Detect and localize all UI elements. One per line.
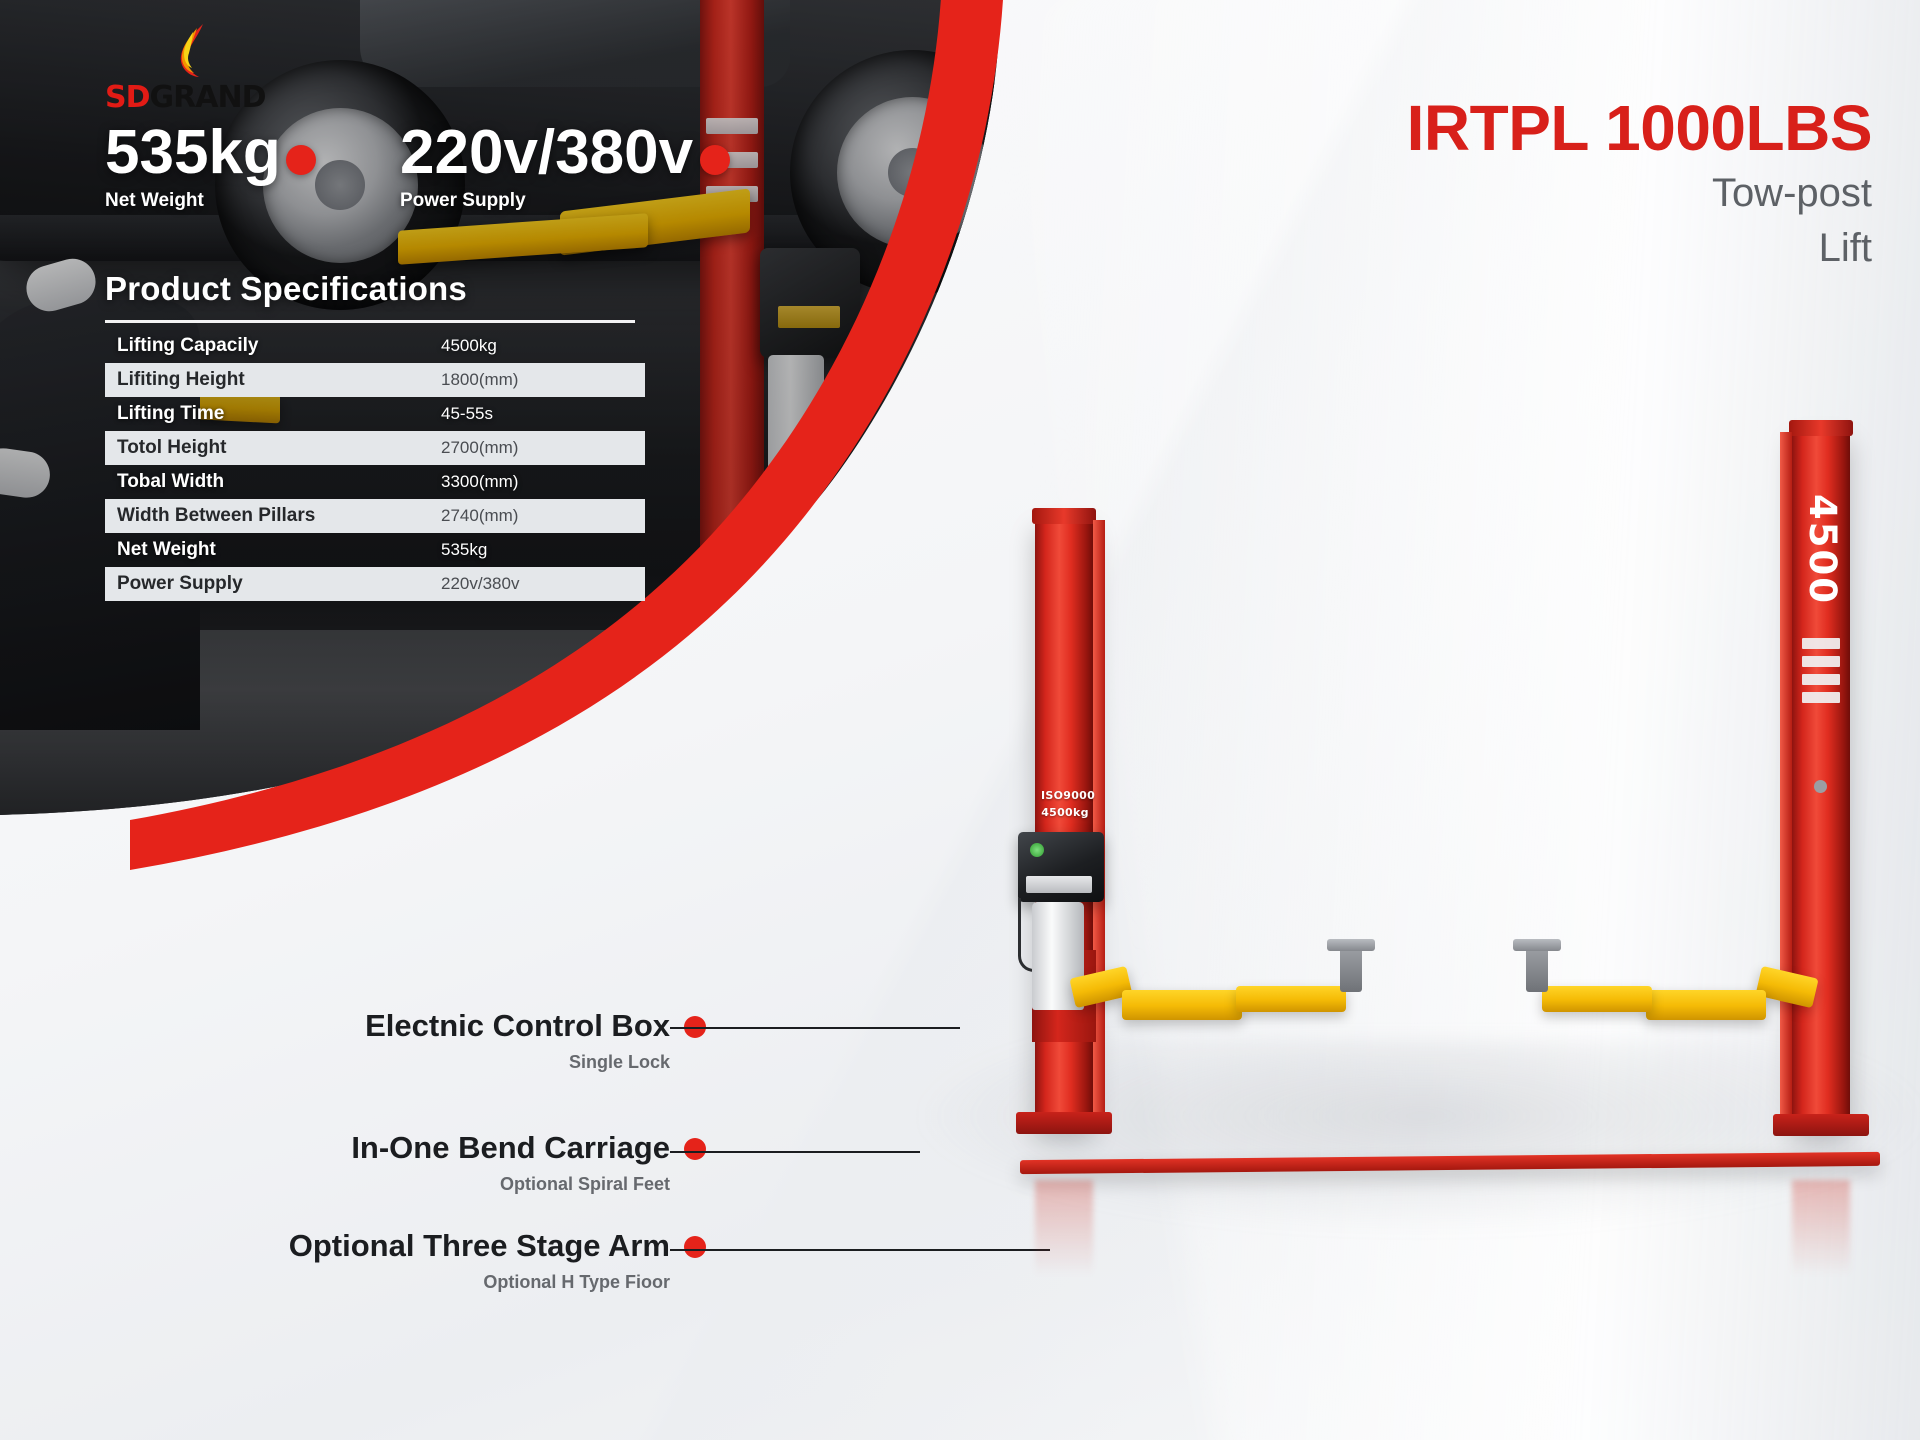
post-cap	[1789, 420, 1853, 436]
product-subtitle-line1: Tow-post	[1407, 171, 1872, 216]
spec-label: Lifting Time	[117, 403, 441, 425]
post-decal-strip	[1802, 638, 1840, 649]
post-reflection	[1792, 1180, 1850, 1276]
post-reflection	[1035, 1180, 1093, 1276]
spec-value: 535kg	[441, 540, 631, 560]
brand-wordmark: SDGRAND	[105, 80, 265, 115]
post-base-plate	[1773, 1114, 1869, 1136]
lift-pad	[1340, 946, 1362, 992]
post-decal-strip	[1802, 692, 1840, 703]
callout-sublabel: Single Lock	[365, 1052, 670, 1073]
spec-value: 1800(mm)	[441, 370, 631, 390]
hero-stat-power-supply: 220v/380v Power Supply	[400, 122, 693, 212]
page-title: IRTPL 1000LBS	[1407, 96, 1872, 161]
specification-block: Product Specifications Lifting Capacily …	[105, 270, 645, 601]
flame-icon	[157, 22, 227, 82]
post-cap	[1032, 508, 1096, 524]
callout-leader-line	[670, 1151, 920, 1153]
specification-divider	[105, 320, 635, 323]
post-iso-decal: ISO9000 4500kg	[1041, 788, 1089, 821]
callout-optional-three-stage-arm: Optional Three Stage Arm Optional H Type…	[289, 1228, 670, 1293]
product-title-block: IRTPL 1000LBS Tow-post Lift	[1407, 96, 1872, 271]
callout-electric-control-box: Electnic Control Box Single Lock	[365, 1008, 670, 1073]
spec-value: 2740(mm)	[441, 506, 631, 526]
lift-arm-segment	[1236, 986, 1346, 1012]
brand-logo: SDGRAND	[105, 22, 335, 110]
lift-arm-segment	[1542, 986, 1652, 1012]
hero-stat-value: 220v/380v	[400, 122, 693, 184]
table-row: Net Weight 535kg	[105, 533, 645, 567]
electric-control-box	[1018, 832, 1104, 902]
callout-leader-line	[670, 1249, 1050, 1251]
table-row: Lifiting Height 1800(mm)	[105, 363, 645, 397]
callout-label: Optional Three Stage Arm	[289, 1228, 670, 1264]
power-led-icon	[1030, 843, 1044, 857]
hero-stat-caption: Net Weight	[105, 190, 281, 212]
table-row: Width Between Pillars 2740(mm)	[105, 499, 645, 533]
iso-line-2: 4500kg	[1041, 805, 1089, 822]
product-subtitle-line2: Lift	[1407, 226, 1872, 271]
floor-base-bar	[1020, 1152, 1880, 1174]
spec-label: Tobal Width	[117, 471, 441, 493]
spec-value: 4500kg	[441, 336, 631, 356]
iso-line-1: ISO9000	[1041, 788, 1089, 805]
spec-value: 220v/380v	[441, 574, 631, 594]
table-row: Tobal Width 3300(mm)	[105, 465, 645, 499]
specification-heading: Product Specifications	[105, 270, 645, 308]
product-illustration: ISO9000 4500kg 4500	[1010, 520, 1890, 1180]
spec-label: Totol Height	[117, 437, 441, 459]
capacity-decal: 4500	[1800, 474, 1844, 624]
callout-dot	[684, 1236, 706, 1258]
hero-bullet-dot	[700, 145, 730, 175]
spec-label: Net Weight	[117, 539, 441, 561]
post-button	[1814, 780, 1827, 793]
hero-stat-net-weight: 535kg Net Weight	[105, 122, 281, 212]
spec-label: Lifting Capacily	[117, 335, 441, 357]
post-decal-strip	[1802, 656, 1840, 667]
spec-value: 45-55s	[441, 404, 631, 424]
poster-canvas: SDGRAND 535kg Net Weight 220v/380v Power…	[0, 0, 1920, 1440]
post-rail	[1780, 432, 1792, 1132]
lift-pad	[1526, 946, 1548, 992]
spec-label: Lifiting Height	[117, 369, 441, 391]
callout-sublabel: Optional H Type Fioor	[289, 1272, 670, 1293]
spec-label: Width Between Pillars	[117, 505, 441, 527]
callout-sublabel: Optional Spiral Feet	[351, 1174, 670, 1195]
hero-bullet-dot	[286, 145, 316, 175]
table-row: Power Supply 220v/380v	[105, 567, 645, 601]
callout-dot	[684, 1138, 706, 1160]
post-decal-strip	[1802, 674, 1840, 685]
table-row: Lifting Capacily 4500kg	[105, 329, 645, 363]
lift-post-right: 4500	[1792, 432, 1850, 1132]
spec-value: 3300(mm)	[441, 472, 631, 492]
callout-label: In-One Bend Carriage	[351, 1130, 670, 1166]
table-row: Lifting Time 45-55s	[105, 397, 645, 431]
table-row: Totol Height 2700(mm)	[105, 431, 645, 465]
spec-label: Power Supply	[117, 573, 441, 595]
hero-stat-value: 535kg	[105, 122, 281, 184]
callout-in-one-bend-carriage: In-One Bend Carriage Optional Spiral Fee…	[351, 1130, 670, 1195]
post-base-plate	[1016, 1112, 1112, 1134]
callout-label: Electnic Control Box	[365, 1008, 670, 1044]
lift-arm-segment	[1646, 990, 1766, 1020]
brand-logo-grand: GRAND	[150, 80, 266, 115]
spec-value: 2700(mm)	[441, 438, 631, 458]
control-box-plate	[1026, 876, 1092, 893]
brand-logo-sd: SD	[105, 80, 150, 115]
callout-leader-line	[670, 1027, 960, 1029]
hero-stat-caption: Power Supply	[400, 190, 693, 212]
lift-arm-segment	[1122, 990, 1242, 1020]
